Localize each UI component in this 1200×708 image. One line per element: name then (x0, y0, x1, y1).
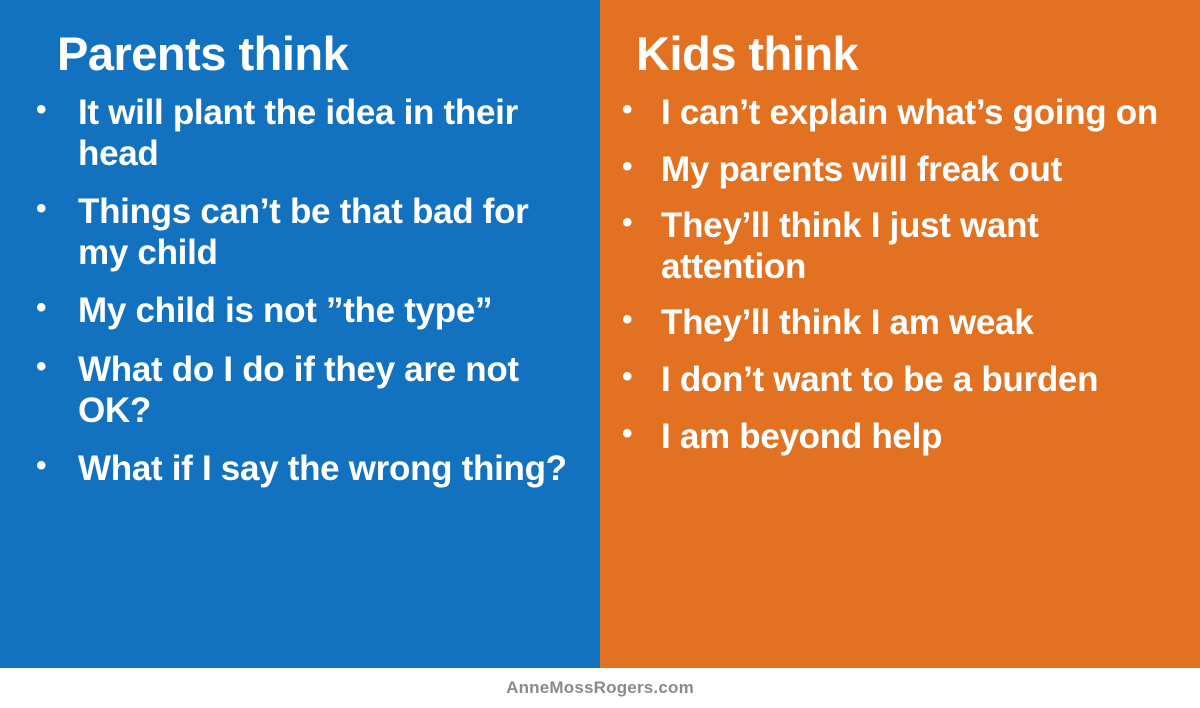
panel-parents-heading: Parents think (36, 30, 576, 77)
kids-bullet-list: • I can’t explain what’s going on • My p… (622, 93, 1182, 457)
panel-kids-think: Kids think • I can’t explain what’s goin… (600, 0, 1200, 668)
bullet-dot-icon: • (36, 350, 78, 385)
bullet-dot-icon: • (36, 449, 78, 484)
list-item-label: My child is not ”the type” (78, 291, 576, 332)
bullet-dot-icon: • (36, 192, 78, 227)
list-item-label: I can’t explain what’s going on (661, 93, 1182, 134)
footer-website-label: AnneMossRogers.com (506, 678, 694, 698)
panel-parents-think: Parents think • It will plant the idea i… (0, 0, 600, 668)
bullet-dot-icon: • (622, 206, 661, 241)
footer: AnneMossRogers.com (0, 668, 1200, 708)
list-item-label: They’ll think I just want attention (661, 206, 1182, 287)
list-item: • What if I say the wrong thing? (36, 449, 576, 490)
list-item: • I can’t explain what’s going on (622, 93, 1182, 134)
bullet-dot-icon: • (622, 303, 661, 338)
list-item-label: Things can’t be that bad for my child (78, 192, 576, 273)
bullet-dot-icon: • (36, 291, 78, 326)
list-item: • Things can’t be that bad for my child (36, 192, 576, 273)
slide: Parents think • It will plant the idea i… (0, 0, 1200, 708)
bullet-dot-icon: • (622, 93, 661, 128)
bullet-dot-icon: • (36, 93, 78, 128)
list-item: • I don’t want to be a burden (622, 360, 1182, 401)
panel-kids-heading: Kids think (622, 30, 1182, 77)
list-item-label: I don’t want to be a burden (661, 360, 1182, 401)
list-item-label: My parents will freak out (661, 150, 1182, 191)
list-item: • It will plant the idea in their head (36, 93, 576, 174)
list-item: • What do I do if they are not OK? (36, 350, 576, 431)
list-item: • My child is not ”the type” (36, 291, 576, 332)
list-item-label: What do I do if they are not OK? (78, 350, 576, 431)
list-item: • They’ll think I just want attention (622, 206, 1182, 287)
list-item-label: I am beyond help (661, 417, 1182, 458)
list-item: • They’ll think I am weak (622, 303, 1182, 344)
bullet-dot-icon: • (622, 150, 661, 185)
parents-bullet-list: • It will plant the idea in their head •… (36, 93, 576, 490)
list-item: • My parents will freak out (622, 150, 1182, 191)
list-item-label: They’ll think I am weak (661, 303, 1182, 344)
list-item-label: What if I say the wrong thing? (78, 449, 576, 490)
panels-container: Parents think • It will plant the idea i… (0, 0, 1200, 668)
list-item-label: It will plant the idea in their head (78, 93, 576, 174)
bullet-dot-icon: • (622, 417, 661, 452)
bullet-dot-icon: • (622, 360, 661, 395)
list-item: • I am beyond help (622, 417, 1182, 458)
